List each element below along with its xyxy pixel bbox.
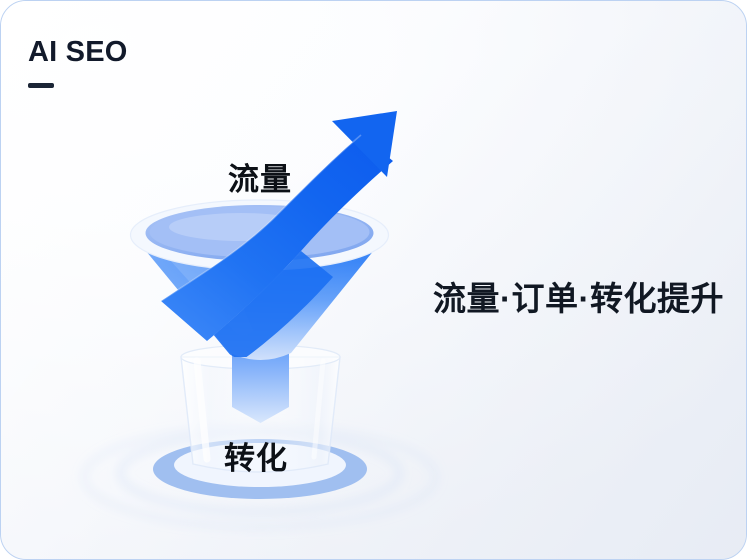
- tagline: 流量·订单·转化提升: [433, 272, 724, 320]
- label-conversion: 转化: [224, 433, 288, 478]
- brand-block: AI SEO: [28, 37, 128, 88]
- page-title: AI SEO: [28, 37, 128, 69]
- label-traffic: 流量: [228, 154, 292, 199]
- ai-seo-illustration-card: AI SEO: [0, 0, 747, 560]
- title-underline-rule: [28, 83, 54, 88]
